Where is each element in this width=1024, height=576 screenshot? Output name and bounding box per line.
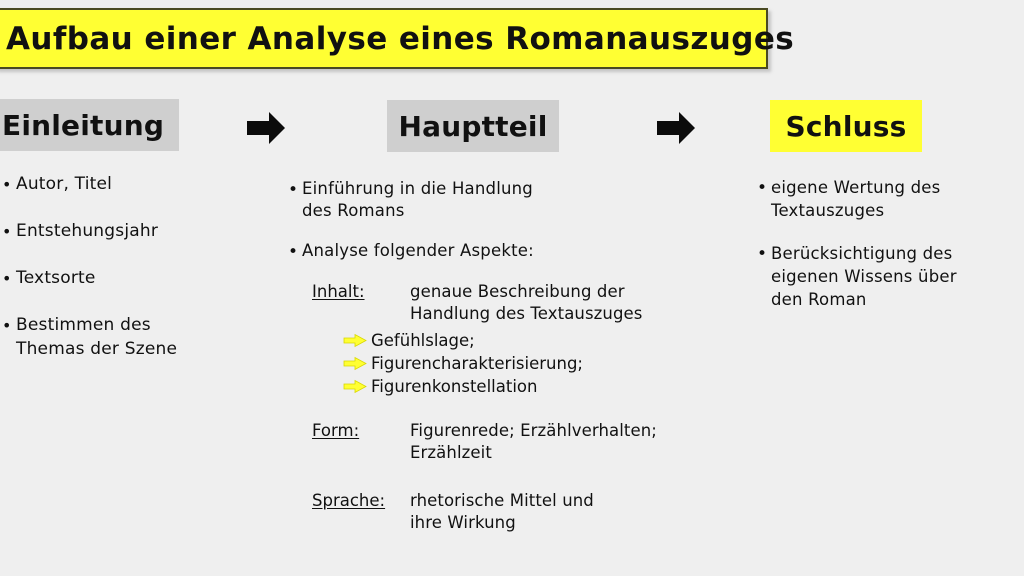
bullet-dot-icon: •: [757, 243, 771, 266]
section-header-einleitung: Einleitung: [0, 99, 179, 151]
bullet-dot-icon: •: [2, 220, 16, 244]
list-item: • Autor, Titel: [2, 172, 237, 197]
list-item: • Berücksichtigung des eigenen Wissens ü…: [757, 242, 1019, 311]
list-item-text: Autor, Titel: [16, 172, 112, 196]
list-item-text: Einführung in die Handlung des Romans: [302, 178, 533, 222]
bullet-dot-icon: •: [2, 314, 16, 338]
column-einleitung: • Autor, Titel • Entstehungsjahr • Texts…: [2, 172, 237, 383]
list-item: • Textsorte: [2, 266, 237, 291]
list-item-text: Berücksichtigung des eigenen Wissens übe…: [771, 242, 957, 311]
list-item-text: eigene Wertung des Textauszuges: [771, 176, 940, 222]
aspect-sprache: Sprache: rhetorische Mittel und ihre Wir…: [312, 490, 738, 534]
bullet-dot-icon: •: [2, 173, 16, 197]
bullet-dot-icon: •: [288, 241, 302, 263]
yellow-arrow-icon: [342, 333, 368, 348]
aspect-inhalt-sublist: Gefühlslage; Figurencharakterisierung;: [342, 329, 738, 398]
aspect-inhalt-text: genaue Beschreibung der Handlung des Tex…: [410, 281, 643, 325]
list-item-text: Textsorte: [16, 266, 96, 290]
bullet-dot-icon: •: [757, 177, 771, 200]
sub-list-item-text: Gefühlslage;: [371, 330, 475, 352]
spacer: [312, 398, 738, 420]
spacer: [312, 468, 738, 490]
sub-list-item-text: Figurenkonstellation: [371, 376, 537, 398]
aspect-inhalt-label: Inhalt:: [312, 281, 410, 303]
sub-list-item: Figurencharakterisierung;: [342, 352, 738, 375]
list-item: • Entstehungsjahr: [2, 219, 237, 244]
sub-list-item: Figurenkonstellation: [342, 375, 738, 398]
list-item-text: Bestimmen des Themas der Szene: [16, 313, 177, 361]
bullet-dot-icon: •: [2, 267, 16, 291]
section-header-schluss-label: Schluss: [786, 110, 907, 143]
list-item: • Einführung in die Handlung des Romans: [288, 178, 738, 222]
aspect-form: Form: Figurenrede; Erzählverhalten; Erzä…: [312, 420, 738, 464]
page-title: Aufbau einer Analyse eines Romanauszuges: [0, 21, 794, 57]
sub-list-item: Gefühlslage;: [342, 329, 738, 352]
aspect-inhalt: Inhalt: genaue Beschreibung der Handlung…: [312, 281, 738, 325]
slide-title-banner: Aufbau einer Analyse eines Romanauszuges: [0, 8, 768, 69]
list-item: • eigene Wertung des Textauszuges: [757, 176, 1019, 222]
bullet-dot-icon: •: [288, 179, 302, 201]
aspect-sprache-text: rhetorische Mittel und ihre Wirkung: [410, 490, 594, 534]
section-header-hauptteil: Hauptteil: [387, 100, 559, 152]
aspect-sprache-label: Sprache:: [312, 490, 410, 512]
slide-canvas: Aufbau einer Analyse eines Romanauszuges…: [0, 0, 1024, 576]
yellow-arrow-icon: [342, 379, 368, 394]
aspect-form-text: Figurenrede; Erzählverhalten; Erzählzeit: [410, 420, 657, 464]
flow-arrow-2-icon: [655, 109, 697, 147]
list-item: • Bestimmen des Themas der Szene: [2, 313, 237, 361]
section-header-hauptteil-label: Hauptteil: [398, 110, 547, 143]
flow-arrow-1-icon: [245, 109, 287, 147]
sub-list-item-text: Figurencharakterisierung;: [371, 353, 583, 375]
column-schluss: • eigene Wertung des Textauszuges • Berü…: [757, 176, 1019, 331]
column-hauptteil: • Einführung in die Handlung des Romans …: [288, 178, 738, 538]
yellow-arrow-icon: [342, 356, 368, 371]
list-item-text: Entstehungsjahr: [16, 219, 158, 243]
aspect-group: Inhalt: genaue Beschreibung der Handlung…: [312, 281, 738, 534]
list-item-text: Analyse folgender Aspekte:: [302, 240, 534, 262]
section-header-einleitung-label: Einleitung: [2, 109, 164, 142]
section-header-schluss: Schluss: [770, 100, 922, 152]
aspect-form-label: Form:: [312, 420, 410, 442]
list-item: • Analyse folgender Aspekte:: [288, 240, 738, 263]
